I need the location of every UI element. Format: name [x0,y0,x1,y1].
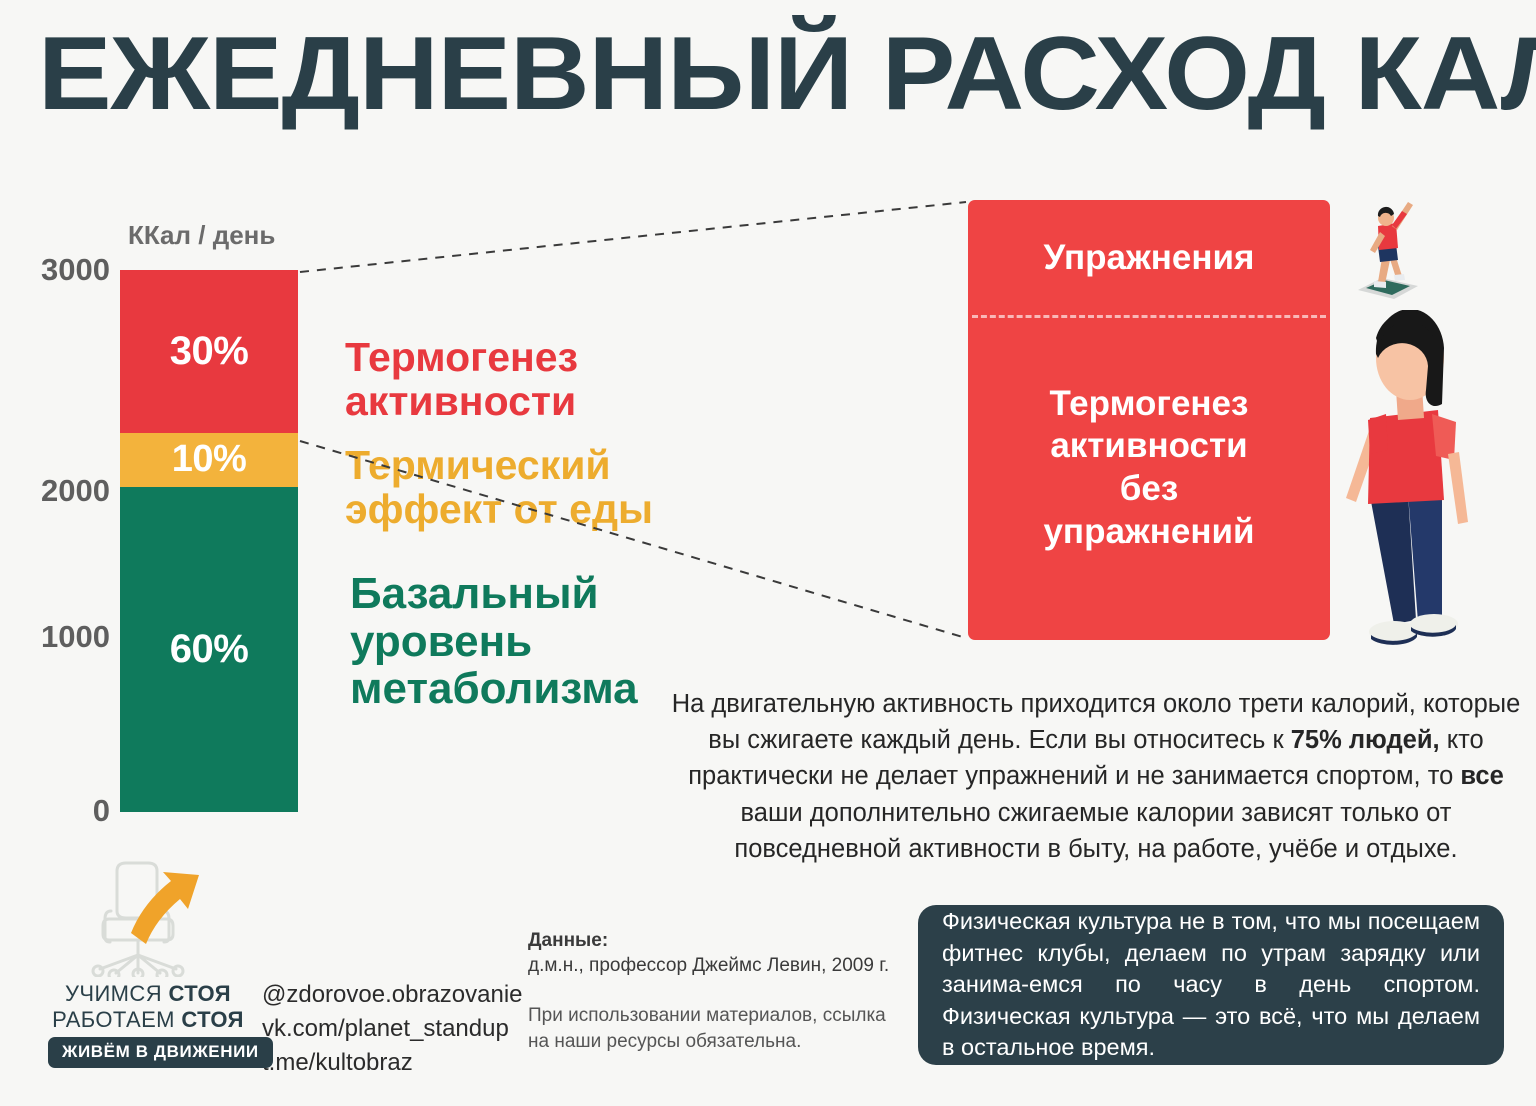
exercising-person-illustration [1352,198,1432,308]
y-axis-tick-2000: 2000 [14,473,110,509]
social-link-instagram[interactable]: @zdorovoe.obrazovanie [262,978,523,1012]
social-link-vk[interactable]: vk.com/planet_standup [262,1012,523,1046]
office-chair-icon [73,855,223,977]
data-source-line: д.м.н., профессор Джеймс Левин, 2009 г. [528,955,908,977]
body-bold-1: 75% людей, [1291,726,1440,754]
social-links: @zdorovoe.obrazovanie vk.com/planet_stan… [262,978,523,1080]
logo-line-1: УЧИМСЯ СТОЯ [48,981,248,1007]
body-paragraph: На двигательную активность приходится ок… [666,686,1526,867]
social-link-telegram[interactable]: t.me/kultobraz [262,1046,523,1080]
bar-segment-red-label: 30% [170,329,249,374]
legend-label-basal-metabolism: Базальный уровень метаболизма [350,570,638,713]
logo-badge: ЖИВЁМ В ДВИЖЕНИИ [48,1037,273,1068]
quote-box: Физическая культура не в том, что мы пос… [918,905,1504,1065]
body-bold-2: все [1460,762,1503,790]
bar-segment-activity-thermogenesis: 30% [120,270,298,433]
logo-line-1-normal: УЧИМСЯ [65,981,168,1006]
y-axis-tick-3000: 3000 [14,252,110,288]
data-heading: Данные: [528,930,908,952]
body-part-3: ваши дополнительно сжигаемые калории зав… [734,799,1457,863]
logo-slogan: УЧИМСЯ СТОЯ РАБОТАЕМ СТОЯ ЖИВЁМ В ДВИЖЕН… [48,981,248,1068]
infographic-root: ЕЖЕДНЕВНЫЙ РАСХОД КАЛОРИЙ ККал / день 30… [0,0,1536,1106]
legend-label-food-thermic-effect: Термический эффект от еды [345,443,700,532]
quote-text: Физическая культура не в том, что мы пос… [942,906,1480,1063]
data-usage-note: При использовании материалов, ссылка на … [528,1003,908,1055]
y-axis-title: ККал / день [128,220,275,251]
callout-box: Упражнения Термогенез активности без упр… [968,200,1330,640]
logo-line-2-normal: РАБОТАЕМ [52,1007,181,1032]
y-axis-tick-1000: 1000 [14,619,110,655]
standing-woman-illustration [1338,310,1488,660]
legend-label-activity-thermogenesis: Термогенез активности [345,335,700,424]
logo-line-2-bold: СТОЯ [181,1007,243,1032]
calorie-stacked-bar-chart: ККал / день 3000 2000 1000 0 30% 10% 60%… [0,0,700,860]
bar-segment-green-label: 60% [170,627,249,672]
logo-line-2: РАБОТАЕМ СТОЯ [48,1007,248,1033]
callout-bottom-section: Термогенез активности без упражнений [968,318,1330,640]
y-axis-tick-0: 0 [14,793,110,829]
bar-segment-yellow-label: 10% [172,438,247,481]
callout-exercise-label: Упражнения [1044,238,1255,278]
data-credits-block: Данные: д.м.н., профессор Джеймс Левин, … [528,930,908,1055]
bar-segment-food-thermic-effect: 10% [120,433,298,487]
bar-segment-basal-metabolism: 60% [120,487,298,812]
callout-top-section: Упражнения [968,200,1330,315]
logo-line-1-bold: СТОЯ [169,981,231,1006]
brand-logo: УЧИМСЯ СТОЯ РАБОТАЕМ СТОЯ ЖИВЁМ В ДВИЖЕН… [48,855,248,1068]
callout-neat-label: Термогенез активности без упражнений [1043,383,1254,554]
stacked-bar: 30% 10% 60% [120,270,298,812]
